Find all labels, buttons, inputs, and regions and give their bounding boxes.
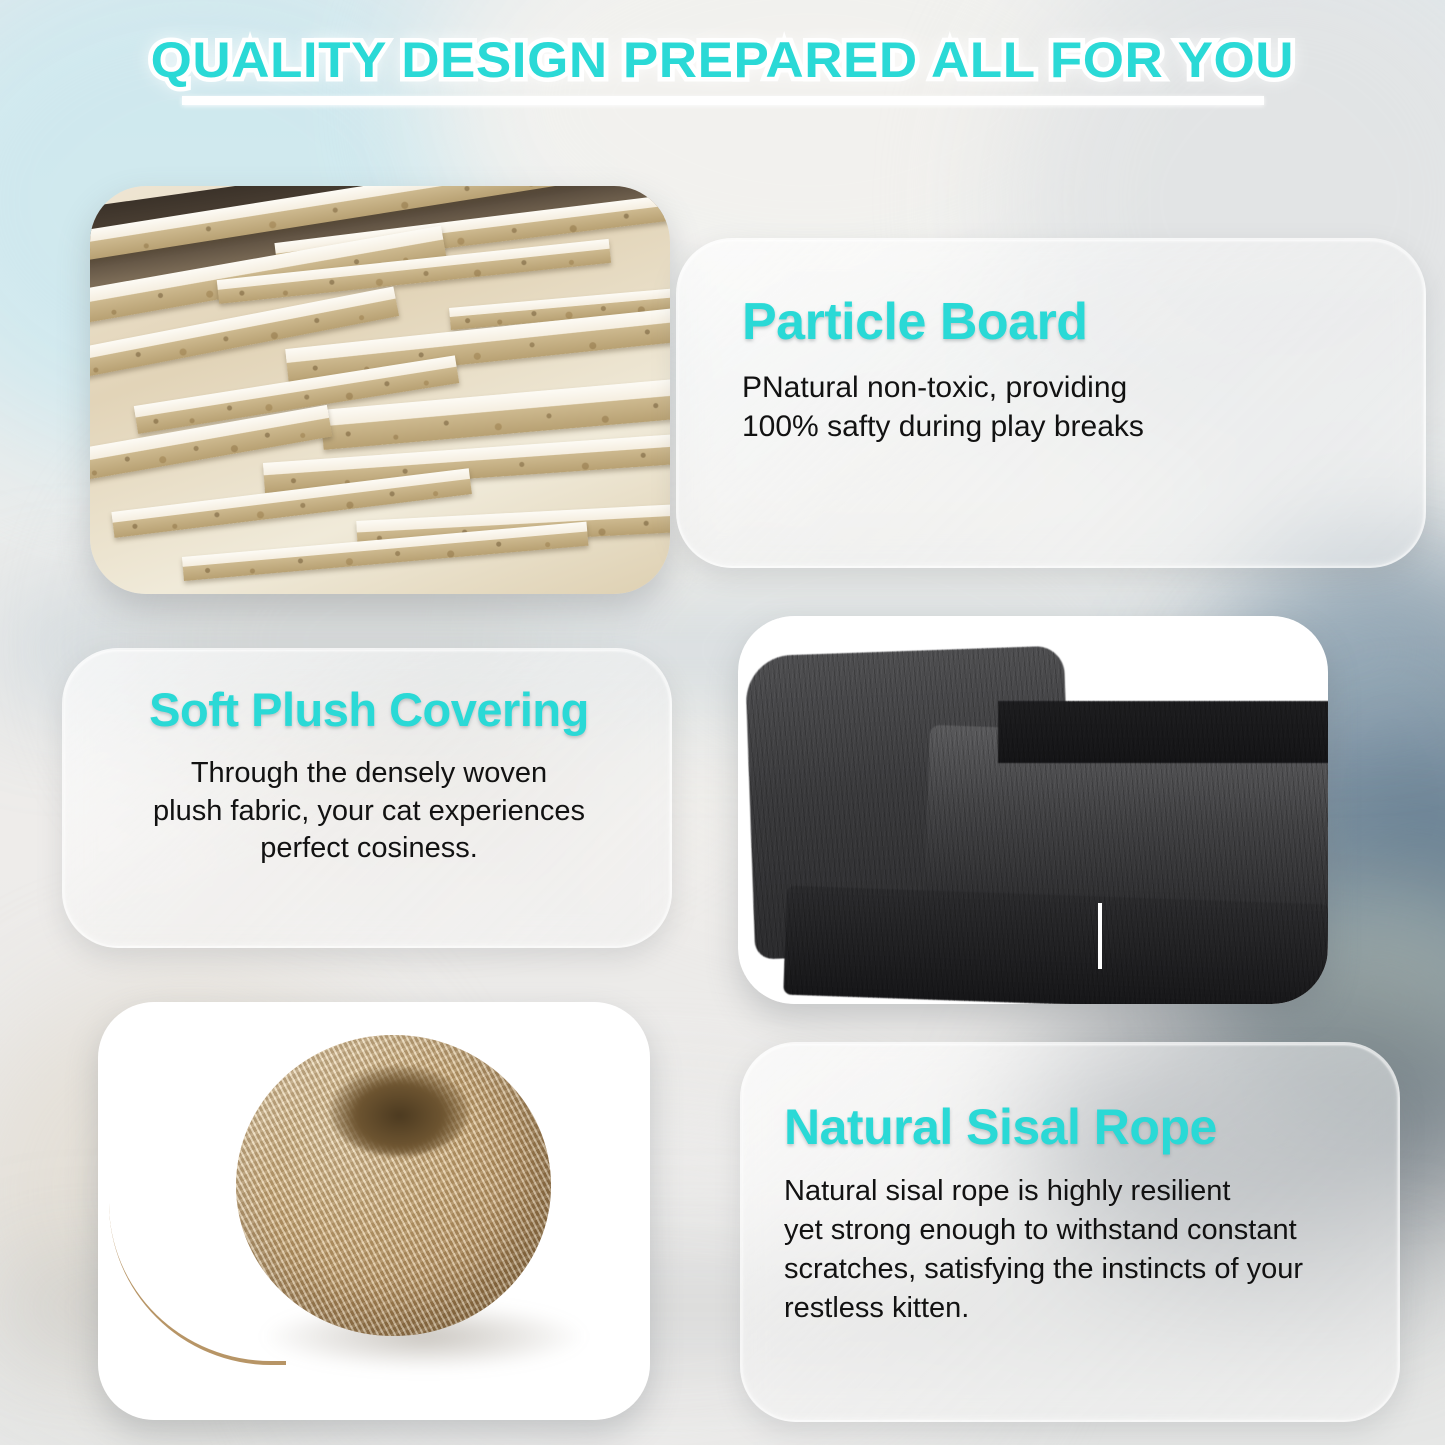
particle-board-scene	[90, 186, 670, 594]
header: QUALITY DESIGN PREPARED ALL FOR YOU	[0, 34, 1445, 105]
title-underline	[182, 96, 1264, 105]
feature-title: Particle Board	[742, 296, 1394, 348]
feature-title: Natural Sisal Rope	[784, 1102, 1382, 1152]
sisal-rope-photo	[98, 1002, 650, 1420]
rope-core	[330, 1066, 468, 1156]
plush-scene	[738, 616, 1328, 1004]
particle-board-photo	[90, 186, 670, 594]
feature-body: PNatural non-toxic, providing 100% safty…	[742, 368, 1394, 446]
infographic-poster: QUALITY DESIGN PREPARED ALL FOR YOU Part…	[0, 0, 1445, 1445]
page-title: QUALITY DESIGN PREPARED ALL FOR YOU	[151, 34, 1294, 87]
feature-body: Through the densely woven plush fabric, …	[94, 755, 644, 868]
feature-card-sisal: Natural Sisal Rope Natural sisal rope is…	[740, 1042, 1400, 1422]
sisal-scene	[98, 1002, 650, 1420]
loose-rope-strand	[109, 1203, 286, 1366]
plush-fabric-photo	[738, 616, 1328, 1004]
plush-texture	[738, 616, 1328, 1004]
feature-title: Soft Plush Covering	[94, 686, 644, 733]
feature-card-plush: Soft Plush Covering Through the densely …	[62, 648, 672, 948]
feature-card-particle-board: Particle Board PNatural non-toxic, provi…	[676, 238, 1426, 568]
feature-body: Natural sisal rope is highly resilient y…	[784, 1172, 1382, 1327]
